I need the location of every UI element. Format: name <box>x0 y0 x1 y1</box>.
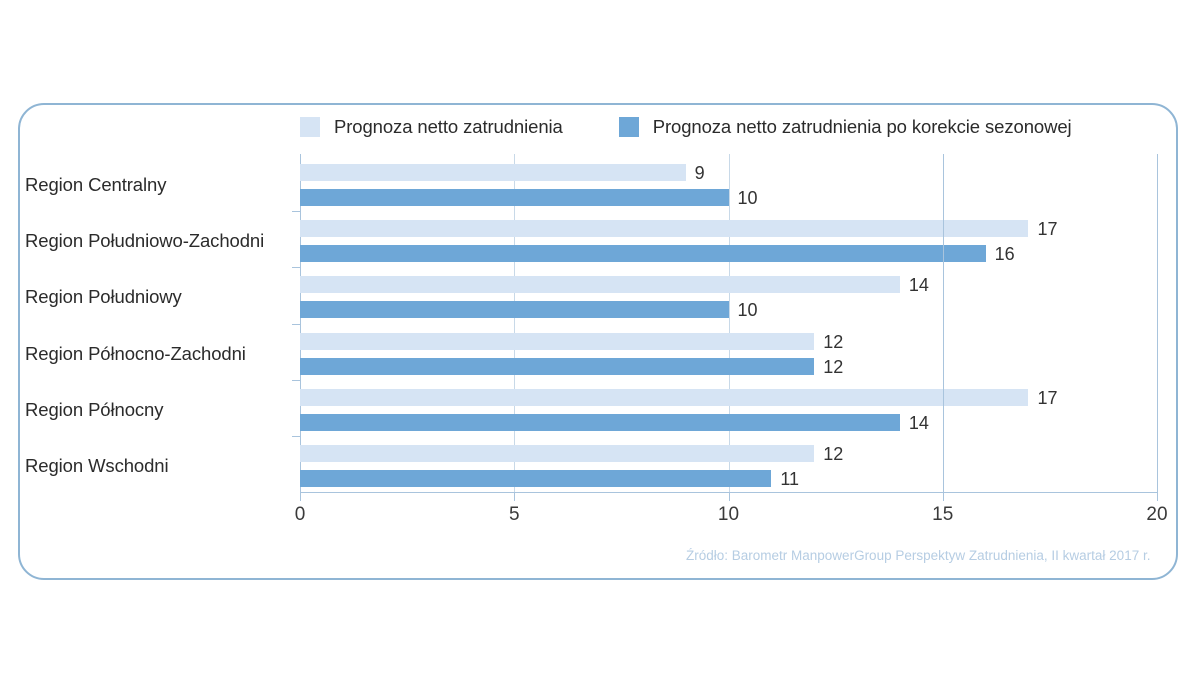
value-label-0-1: 10 <box>738 190 758 207</box>
category-label-1: Region Południowo-Zachodni <box>25 230 264 252</box>
gridline-20 <box>1157 154 1158 492</box>
bar-prognoza-netto-zatrudnienia-po-korekcie-sezonowej-3 <box>300 358 814 375</box>
x-tick-0 <box>300 493 301 501</box>
value-label-1-1: 16 <box>995 246 1015 263</box>
legend-swatch-forecast <box>300 117 320 137</box>
gridline-10 <box>729 154 730 492</box>
x-tick-10 <box>729 493 730 501</box>
legend-label-seasonally-adjusted: Prognoza netto zatrudnienia po korekcie … <box>653 116 1072 138</box>
value-label-0-0: 9 <box>695 165 705 182</box>
y-tick-4 <box>292 380 301 381</box>
x-tick-15 <box>943 493 944 501</box>
value-label-4-1: 14 <box>909 415 929 432</box>
bar-prognoza-netto-zatrudnienia-po-korekcie-sezonowej-2 <box>300 301 729 318</box>
bar-prognoza-netto-zatrudnienia-po-korekcie-sezonowej-0 <box>300 189 729 206</box>
value-label-4-0: 17 <box>1037 390 1057 407</box>
category-label-3: Region Północno-Zachodni <box>25 343 246 365</box>
bar-prognoza-netto-zatrudnienia-5 <box>300 445 814 462</box>
bar-prognoza-netto-zatrudnienia-1 <box>300 220 1028 237</box>
value-label-5-0: 12 <box>823 446 843 463</box>
value-label-2-0: 14 <box>909 277 929 294</box>
bar-prognoza-netto-zatrudnienia-po-korekcie-sezonowej-5 <box>300 470 771 487</box>
y-tick-1 <box>292 211 301 212</box>
category-label-5: Region Wschodni <box>25 455 169 477</box>
gridline-15 <box>943 154 944 492</box>
chart-screenshot: Prognoza netto zatrudnienia Prognoza net… <box>0 0 1200 675</box>
source-note: Źródło: Barometr ManpowerGroup Perspekty… <box>686 548 1150 563</box>
value-label-2-1: 10 <box>738 302 758 319</box>
x-tick-label-20: 20 <box>1146 504 1167 526</box>
bar-prognoza-netto-zatrudnienia-2 <box>300 276 900 293</box>
legend-label-forecast: Prognoza netto zatrudnienia <box>334 116 563 138</box>
bar-prognoza-netto-zatrudnienia-po-korekcie-sezonowej-1 <box>300 245 986 262</box>
bar-prognoza-netto-zatrudnienia-4 <box>300 389 1028 406</box>
bar-prognoza-netto-zatrudnienia-0 <box>300 164 686 181</box>
y-tick-3 <box>292 324 301 325</box>
y-tick-5 <box>292 436 301 437</box>
value-label-3-1: 12 <box>823 359 843 376</box>
bar-prognoza-netto-zatrudnienia-3 <box>300 333 814 350</box>
value-label-3-0: 12 <box>823 334 843 351</box>
x-tick-label-5: 5 <box>509 504 520 526</box>
value-label-1-0: 17 <box>1037 221 1057 238</box>
legend-item-forecast: Prognoza netto zatrudnienia <box>300 116 563 138</box>
category-label-0: Region Centralny <box>25 174 166 196</box>
x-tick-label-0: 0 <box>295 504 306 526</box>
category-label-2: Region Południowy <box>25 286 182 308</box>
legend-item-seasonally-adjusted: Prognoza netto zatrudnienia po korekcie … <box>619 116 1072 138</box>
y-tick-2 <box>292 267 301 268</box>
legend-swatch-seasonally-adjusted <box>619 117 639 137</box>
x-tick-label-10: 10 <box>718 504 739 526</box>
value-label-5-1: 11 <box>780 471 799 488</box>
x-tick-label-15: 15 <box>932 504 953 526</box>
category-label-4: Region Północny <box>25 399 163 421</box>
bar-prognoza-netto-zatrudnienia-po-korekcie-sezonowej-4 <box>300 414 900 431</box>
x-tick-5 <box>514 493 515 501</box>
x-tick-20 <box>1157 493 1158 501</box>
chart-legend: Prognoza netto zatrudnienia Prognoza net… <box>300 114 1072 140</box>
